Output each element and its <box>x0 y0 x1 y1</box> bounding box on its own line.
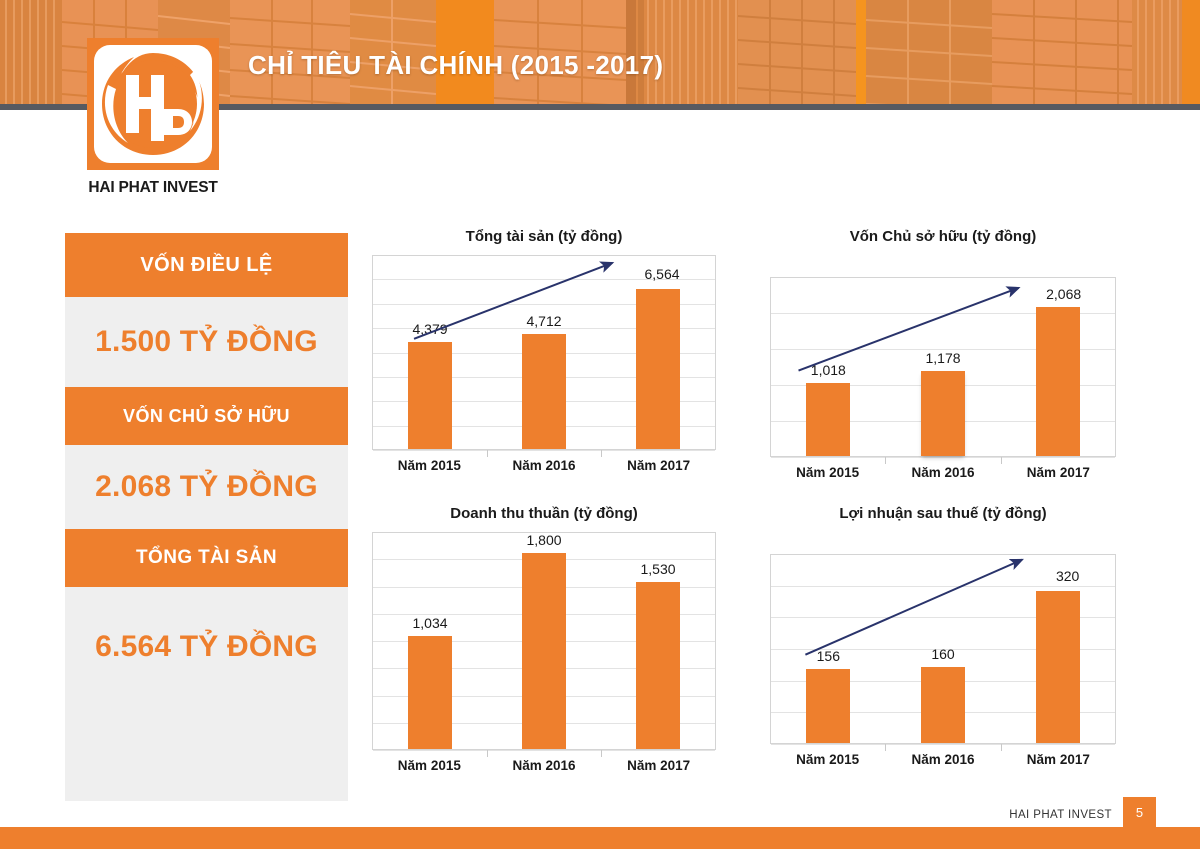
chart-von-chu-so-huu: Vốn Chủ sở hữu (tỷ đồng) 1,0181,1782,068… <box>770 228 1116 483</box>
chart-x-axis: Năm 2015Năm 2016Năm 2017 <box>372 450 716 476</box>
chart-title: Lợi nhuận sau thuế (tỷ đồng) <box>770 505 1116 522</box>
chart-doanh-thu-thuan: Doanh thu thuần (tỷ đồng) 1,0341,8001,53… <box>372 505 716 776</box>
trend-arrow-icon <box>771 277 1115 457</box>
logo-company-name: HAI PHAT INVEST <box>78 179 228 197</box>
axis-tick <box>885 744 886 751</box>
axis-category-label: Năm 2016 <box>911 465 974 480</box>
chart-plot-area: 1,0341,8001,530 <box>372 532 716 750</box>
kpi-value-total-assets: 6.564 TỶ ĐỒNG <box>65 587 348 707</box>
axis-tick <box>487 750 488 757</box>
axis-category-label: Năm 2015 <box>398 758 461 773</box>
slide-title: CHỈ TIÊU TÀI CHÍNH (2015 -2017) <box>248 50 663 81</box>
axis-category-label: Năm 2015 <box>398 458 461 473</box>
page-number-badge: 5 <box>1123 797 1156 827</box>
chart-tong-tai-san: Tổng tài sản (tỷ đồng) 4,3794,7126,564 N… <box>372 228 716 476</box>
bar-value-label: 1,800 <box>526 532 561 548</box>
axis-tick <box>601 750 602 757</box>
chart-loi-nhuan-sau-thue: Lợi nhuận sau thuế (tỷ đồng) 156160320 N… <box>770 505 1116 770</box>
chart-plot-area: 156160320 <box>770 554 1116 744</box>
kpi-value-owners-equity: 2.068 TỶ ĐỒNG <box>65 445 348 529</box>
axis-tick <box>601 450 602 457</box>
axis-category-label: Năm 2017 <box>1027 465 1090 480</box>
logo-frame <box>87 38 219 170</box>
chart-plot-area: 1,0181,1782,068 <box>770 277 1116 457</box>
axis-category-label: Năm 2015 <box>796 752 859 767</box>
hp-monogram-icon <box>94 45 212 163</box>
axis-tick <box>487 450 488 457</box>
axis-category-label: Năm 2017 <box>627 758 690 773</box>
kpi-label-charter-capital: VỐN ĐIỀU LỆ <box>65 233 348 297</box>
chart-x-axis: Năm 2015Năm 2016Năm 2017 <box>770 744 1116 770</box>
chart-title: Tổng tài sản (tỷ đồng) <box>372 228 716 245</box>
axis-category-label: Năm 2016 <box>911 752 974 767</box>
company-logo: HAI PHAT INVEST <box>78 38 228 197</box>
logo-mark <box>94 45 212 163</box>
kpi-value-charter-capital: 1.500 TỶ ĐỒNG <box>65 297 348 387</box>
footer-bar <box>0 827 1200 849</box>
axis-category-label: Năm 2016 <box>512 458 575 473</box>
axis-category-label: Năm 2016 <box>512 758 575 773</box>
kpi-label-owners-equity: VỐN CHỦ SỞ HỮU <box>65 387 348 445</box>
chart-x-axis: Năm 2015Năm 2016Năm 2017 <box>372 750 716 776</box>
axis-category-label: Năm 2017 <box>1027 752 1090 767</box>
chart-plot-area: 4,3794,7126,564 <box>372 255 716 450</box>
chart-title: Vốn Chủ sở hữu (tỷ đồng) <box>770 228 1116 245</box>
axis-category-label: Năm 2017 <box>627 458 690 473</box>
kpi-panel: VỐN ĐIỀU LỆ 1.500 TỶ ĐỒNG VỐN CHỦ SỞ HỮU… <box>65 233 348 801</box>
chart-x-axis: Năm 2015Năm 2016Năm 2017 <box>770 457 1116 483</box>
kpi-label-total-assets: TỔNG TÀI SẢN <box>65 529 348 587</box>
axis-tick <box>1001 457 1002 464</box>
bar-năm-2017 <box>636 582 680 749</box>
bar-năm-2016 <box>522 553 566 749</box>
bar-năm-2015 <box>408 636 452 749</box>
axis-category-label: Năm 2015 <box>796 465 859 480</box>
trend-arrow-icon <box>771 554 1115 744</box>
axis-tick <box>1001 744 1002 751</box>
trend-arrow-icon <box>373 255 715 450</box>
footer-company-name: HAI PHAT INVEST <box>1009 809 1112 821</box>
bar-value-label: 1,034 <box>412 615 447 631</box>
chart-title: Doanh thu thuần (tỷ đồng) <box>372 505 716 522</box>
axis-tick <box>885 457 886 464</box>
bar-value-label: 1,530 <box>640 561 675 577</box>
